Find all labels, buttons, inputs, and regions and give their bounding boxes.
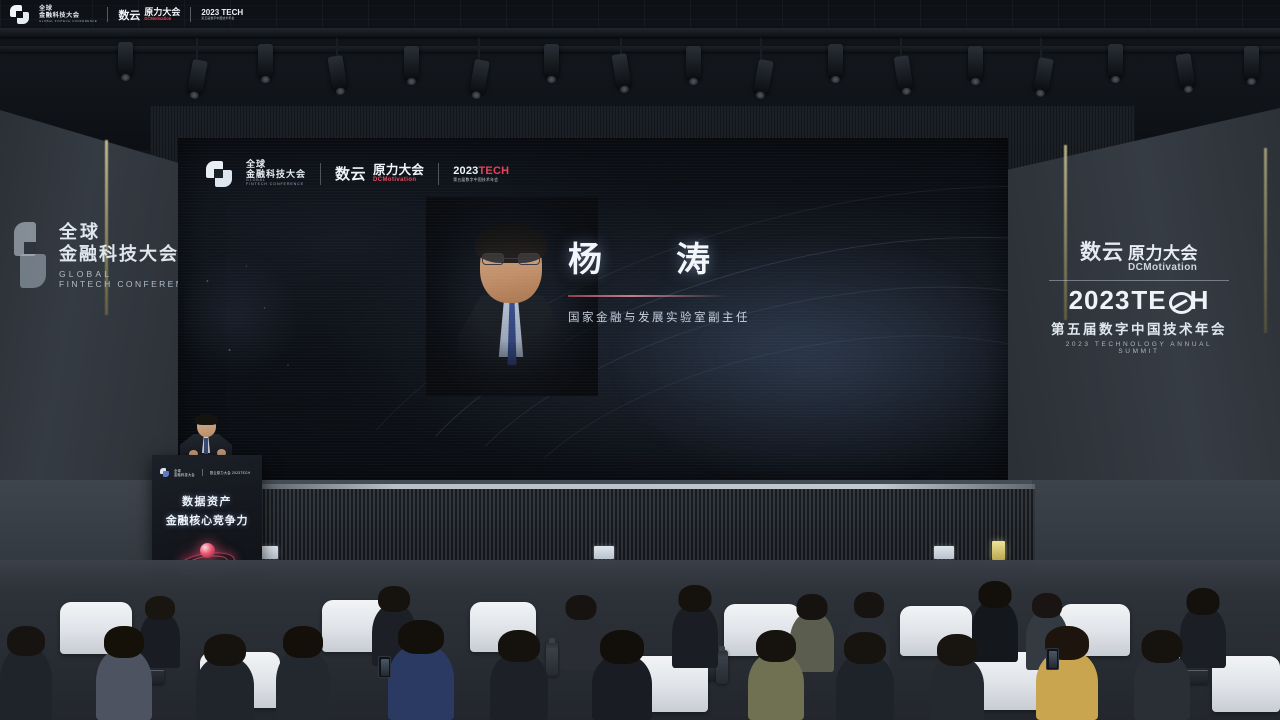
audience-person — [972, 600, 1018, 662]
left-wall-branding: 全球 金融科技大会 GLOBAL FINTECH CONFERENCE — [14, 222, 201, 290]
audience-person — [930, 656, 984, 720]
screen-logo-bar: 全球 金融科技大会 GLOBAL FINTECH CONFERENCE 数云 原… — [206, 160, 509, 187]
right-wall-divider — [1049, 280, 1229, 281]
stage-light-fixture — [118, 42, 133, 76]
screen-gfc-en2: FINTECH CONFERENCE — [246, 183, 306, 187]
global-fintech-logo-icon — [206, 161, 232, 187]
orbit-e-icon — [1168, 289, 1189, 311]
speaker-name: 杨 涛 — [568, 232, 898, 281]
audience-person — [96, 648, 152, 720]
audience-person — [388, 644, 454, 720]
truss-bar-secondary — [0, 46, 1280, 52]
stage-light-fixture — [544, 44, 559, 78]
audience-person — [0, 646, 52, 720]
watermark-dcm-logo: 数云 原力大会 DCMotivation — [118, 7, 180, 23]
podium-title-line1: 数据资产 — [152, 493, 262, 509]
stage-fascia-panel — [934, 546, 954, 559]
podium-title: 数据资产 金融核心竞争力 — [152, 493, 262, 528]
podium-logo-bar: 全球金融科技大会 数云原力大会 2023TECH — [160, 468, 250, 477]
screen-tech-lockup: 2023TECH 第五届数字中国技术年会 — [453, 165, 509, 182]
stage-light-fixture — [469, 59, 490, 95]
right-wall-brand-cn2: 原力大会 — [1128, 245, 1198, 263]
podium-title-line2: 金融核心竞争力 — [152, 512, 262, 528]
stage-amber-light — [992, 541, 1005, 560]
right-wall-en-sub: 2023 TECHNOLOGY ANNUAL SUMMIT — [1044, 341, 1234, 355]
right-wall-cn-sub: 第五届数字中国技术年会 — [1044, 318, 1234, 338]
light-hanger-rod — [478, 38, 480, 62]
truss-bar-primary — [0, 28, 1280, 37]
name-underline — [568, 295, 728, 297]
screen-logo-divider-2 — [438, 163, 439, 185]
watermark-gfc-en: GLOBAL FINTECH CONFERENCE — [39, 20, 97, 23]
screen-tech-mark: TECH — [479, 165, 510, 177]
speaker-portrait — [456, 223, 568, 388]
stage-light-fixture — [686, 46, 701, 80]
global-fintech-logo-icon — [14, 222, 48, 288]
watermark-tech-lockup: 2023 TECH 第五届数字中国技术年会 — [201, 8, 243, 20]
global-fintech-logo-icon — [10, 5, 29, 24]
stage-light-fixture — [828, 44, 843, 78]
right-wall-brand-cn: 数云 — [1080, 236, 1124, 266]
stage-light-fixture — [404, 46, 419, 80]
wall-accent-light-right-2 — [1264, 148, 1267, 333]
dcmotivation-logo: 数云 原力大会 DCMotivation — [335, 163, 424, 184]
audience-person — [672, 604, 718, 668]
stage-light-fixture — [1033, 57, 1054, 93]
screen-tech-sub: 第五届数字中国技术年会 — [453, 178, 509, 182]
screen-starfield — [184, 248, 314, 398]
watermark-divider-2 — [190, 7, 191, 22]
main-led-screen: 全球 金融科技大会 GLOBAL FINTECH CONFERENCE 数云 原… — [178, 138, 1008, 486]
watermark-divider — [107, 7, 108, 22]
speaker-name-block: 杨 涛 国家金融与发展实验室副主任 — [568, 232, 898, 325]
glasses-icon — [482, 253, 540, 265]
audience-person — [1134, 652, 1190, 720]
screen-dcm-sub: DCMotivation — [373, 177, 424, 183]
watermark-dcm-cn: 数云 — [118, 7, 140, 23]
water-bottle — [546, 642, 558, 676]
screen-dcm-cn: 数云 — [335, 163, 366, 184]
audience-person — [490, 652, 548, 720]
audience-person — [560, 612, 602, 670]
watermark-dcm-sub: DCMotivation — [144, 17, 180, 21]
speaker-title: 国家金融与发展实验室副主任 — [568, 309, 898, 325]
stage-light-fixture — [753, 59, 774, 95]
screen-tech-year: 2023TECH — [453, 165, 509, 178]
stage-light-fixture — [968, 46, 983, 80]
right-wall-tech-lockup: 2023 TE H — [1044, 287, 1234, 313]
stage-light-fixture — [1244, 46, 1259, 80]
screen-dcm-big: 原力大会 — [373, 164, 424, 177]
stage-light-fixture — [327, 55, 347, 91]
smartphone — [1046, 648, 1059, 670]
global-fintech-logo-icon — [160, 468, 169, 477]
stage-light-fixture — [258, 44, 273, 78]
audience-area: 中国民生银行 中国进出口银行 中信银行 — [0, 560, 1280, 720]
right-wall-branding: 数云 原力大会 DCMotivation 2023 TE H 第五届数字中国技术… — [1044, 236, 1234, 355]
broadcast-watermark: 全球 金融科技大会 GLOBAL FINTECH CONFERENCE 数云 原… — [10, 5, 243, 24]
right-wall-tech-year: 2023 — [1069, 287, 1131, 313]
conference-stage-scene: 全球 金融科技大会 GLOBAL FINTECH CONFERENCE 数云 原… — [0, 0, 1280, 720]
audience-person — [592, 654, 652, 720]
audience-person — [196, 656, 254, 720]
stage-light-fixture — [187, 59, 208, 95]
watermark-tech-sub: 第五届数字中国技术年会 — [201, 17, 243, 20]
right-wall-tech-te: TE — [1131, 287, 1166, 313]
stage-fascia-panel — [594, 546, 614, 559]
audience-person — [836, 654, 894, 720]
podium-logo-right: 数云原力大会 2023TECH — [210, 470, 250, 475]
stage-light-fixture — [1108, 44, 1123, 78]
stage-light-fixture — [611, 53, 631, 89]
stage-light-fixture — [893, 55, 913, 91]
audience-person — [1180, 606, 1226, 668]
smartphone — [378, 656, 391, 678]
right-wall-brand-en: DCMotivation — [1128, 263, 1198, 274]
audience-person — [748, 652, 804, 720]
screen-logo-divider — [320, 163, 321, 185]
audience-person — [276, 648, 330, 720]
stage-light-fixture — [1175, 53, 1195, 89]
podium-logo-cn: 全球金融科技大会 — [174, 469, 195, 477]
